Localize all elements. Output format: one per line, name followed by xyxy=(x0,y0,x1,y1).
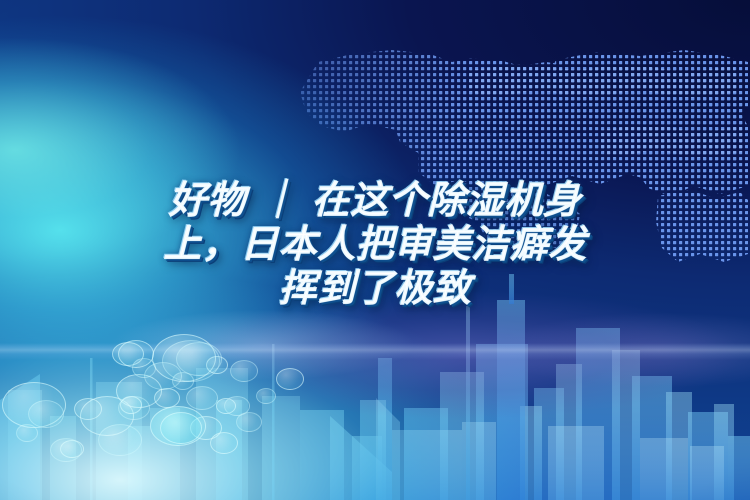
headline-line-2: 上，日本人把审美洁癖发 xyxy=(0,222,750,266)
headline-block: 好物 ｜ 在这个除湿机身 上，日本人把审美洁癖发 挥到了极致 xyxy=(0,178,750,310)
headline-line-3: 挥到了极致 xyxy=(0,266,750,310)
headline-line-1: 好物 ｜ 在这个除湿机身 xyxy=(0,178,750,222)
banner-image: 好物 ｜ 在这个除湿机身 上，日本人把审美洁癖发 挥到了极致 xyxy=(0,0,750,500)
